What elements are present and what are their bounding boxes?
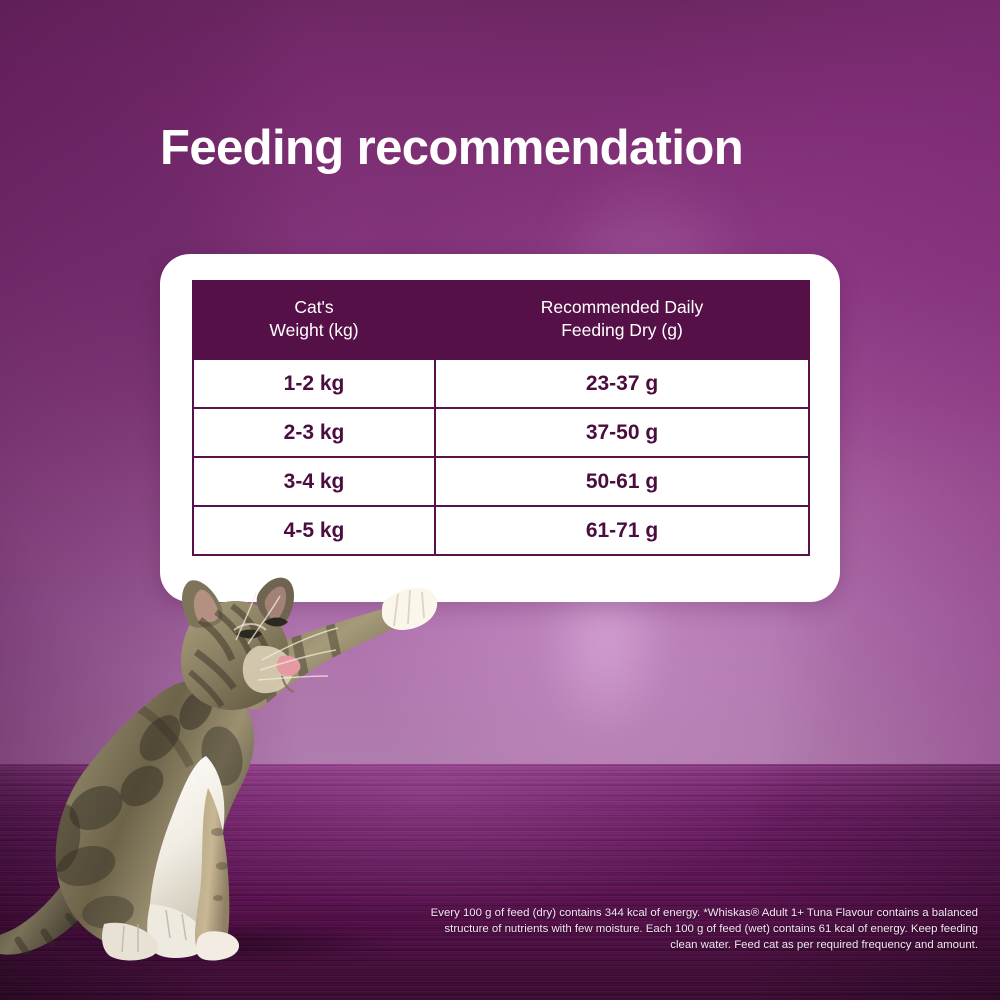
cat-front-paw <box>196 931 239 960</box>
cell-weight: 3-4 kg <box>193 457 435 506</box>
page-title: Feeding recommendation <box>160 122 920 176</box>
cat-ear-left-inner <box>194 590 219 622</box>
table-row: 4-5 kg 61-71 g <box>193 506 809 555</box>
cell-weight: 2-3 kg <box>193 408 435 457</box>
table-row: 2-3 kg 37-50 g <box>193 408 809 457</box>
cell-weight: 4-5 kg <box>193 506 435 555</box>
feeding-table-body: 1-2 kg 23-37 g 2-3 kg 37-50 g 3-4 kg 50-… <box>193 359 809 555</box>
table-row: 3-4 kg 50-61 g <box>193 457 809 506</box>
poster-canvas: Feeding recommendation Cat's Weight (kg)… <box>0 0 1000 1000</box>
column-header-feeding-line2: Feeding Dry (g) <box>561 320 683 340</box>
feeding-table-head: Cat's Weight (kg) Recommended Daily Feed… <box>193 281 809 359</box>
cell-feeding: 50-61 g <box>435 457 809 506</box>
cell-feeding: 23-37 g <box>435 359 809 408</box>
column-header-weight: Cat's Weight (kg) <box>193 281 435 359</box>
feeding-table: Cat's Weight (kg) Recommended Daily Feed… <box>192 280 810 556</box>
cell-weight: 1-2 kg <box>193 359 435 408</box>
column-header-feeding-line1: Recommended Daily <box>541 297 703 317</box>
table-header-row: Cat's Weight (kg) Recommended Daily Feed… <box>193 281 809 359</box>
column-header-feeding: Recommended Daily Feeding Dry (g) <box>435 281 809 359</box>
table-row: 1-2 kg 23-37 g <box>193 359 809 408</box>
feeding-table-card: Cat's Weight (kg) Recommended Daily Feed… <box>160 254 840 602</box>
column-header-weight-line2: Weight (kg) <box>269 320 358 340</box>
column-header-weight-line1: Cat's <box>294 297 333 317</box>
tabby-cat-reaching-up-icon <box>0 560 470 980</box>
cell-feeding: 61-71 g <box>435 506 809 555</box>
cell-feeding: 37-50 g <box>435 408 809 457</box>
footnote-text: Every 100 g of feed (dry) contains 344 k… <box>425 905 978 954</box>
